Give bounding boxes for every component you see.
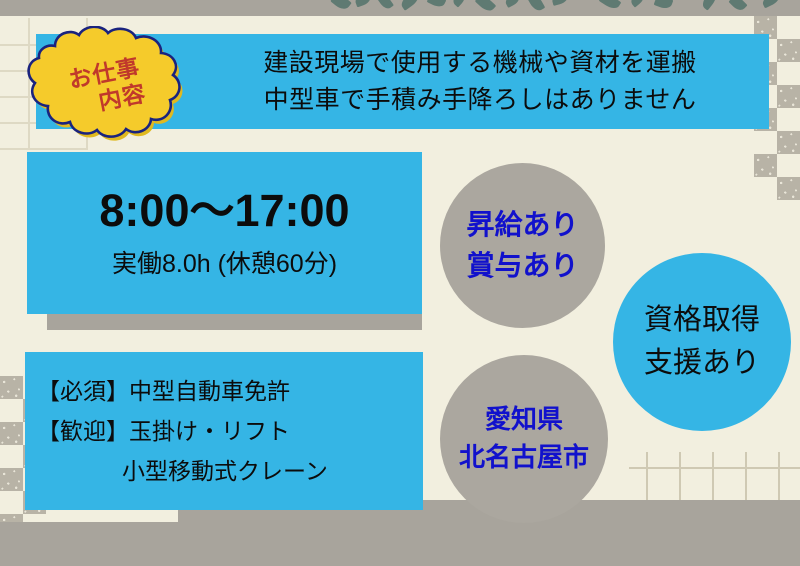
job-content-text: 建設現場で使用する機械や資材を運搬 中型車で手積み手降ろしはありません (200, 34, 760, 129)
qualification-welcome-extra: 小型移動式クレーン (37, 451, 423, 491)
badge-work-location: 愛知県 北名古屋市 (440, 355, 608, 523)
job-content-line1: 建設現場で使用する機械や資材を運搬 (263, 45, 697, 81)
job-content-line2: 中型車で手積み手降ろしはありません (264, 82, 697, 118)
checker-tile (777, 177, 800, 200)
salary-raise-line1: 昇給あり (466, 205, 578, 246)
checker-tile (777, 85, 800, 108)
checker-tile (0, 468, 23, 491)
qualifications-content: 【必須】中型自動車免許 【歓迎】玉掛け・リフト 小型移動式クレーン (25, 352, 423, 510)
job-posting-poster: 建設現場で使用する機械や資材を運搬 中型車で手積み手降ろしはありません お仕事 … (0, 0, 800, 566)
location-city: 北名古屋市 (459, 439, 589, 477)
bottom-gray-bar (0, 522, 800, 566)
checker-tile (777, 39, 800, 62)
salary-raise-line2: 賞与あり (466, 246, 578, 287)
qualification-welcome: 【歓迎】玉掛け・リフト (37, 411, 423, 451)
top-gray-bar (0, 0, 800, 16)
job-content-cloud-badge: お仕事 内容 (22, 26, 192, 148)
badge-qualification-support: 資格取得 支援あり (613, 253, 791, 431)
checker-tile (0, 422, 23, 445)
working-hours-content: 8:00〜17:00 実働8.0h (休憩60分) (27, 152, 422, 314)
qualification-required: 【必須】中型自動車免許 (37, 371, 423, 411)
checker-tile (0, 376, 23, 399)
checker-tile (777, 131, 800, 154)
grid-line (629, 467, 800, 469)
support-line2: 支援あり (644, 342, 760, 386)
checker-tile (754, 154, 777, 177)
working-hours-range: 8:00〜17:00 (99, 186, 349, 236)
working-hours-detail: 実働8.0h (休憩60分) (112, 244, 337, 280)
hours-panel-shadow (47, 314, 422, 330)
badge-salary-raise-bonus: 昇給あり 賞与あり (440, 163, 605, 328)
qualifications-panel-shadow (178, 510, 423, 524)
location-prefecture: 愛知県 (485, 401, 563, 439)
support-line1: 資格取得 (644, 299, 760, 343)
